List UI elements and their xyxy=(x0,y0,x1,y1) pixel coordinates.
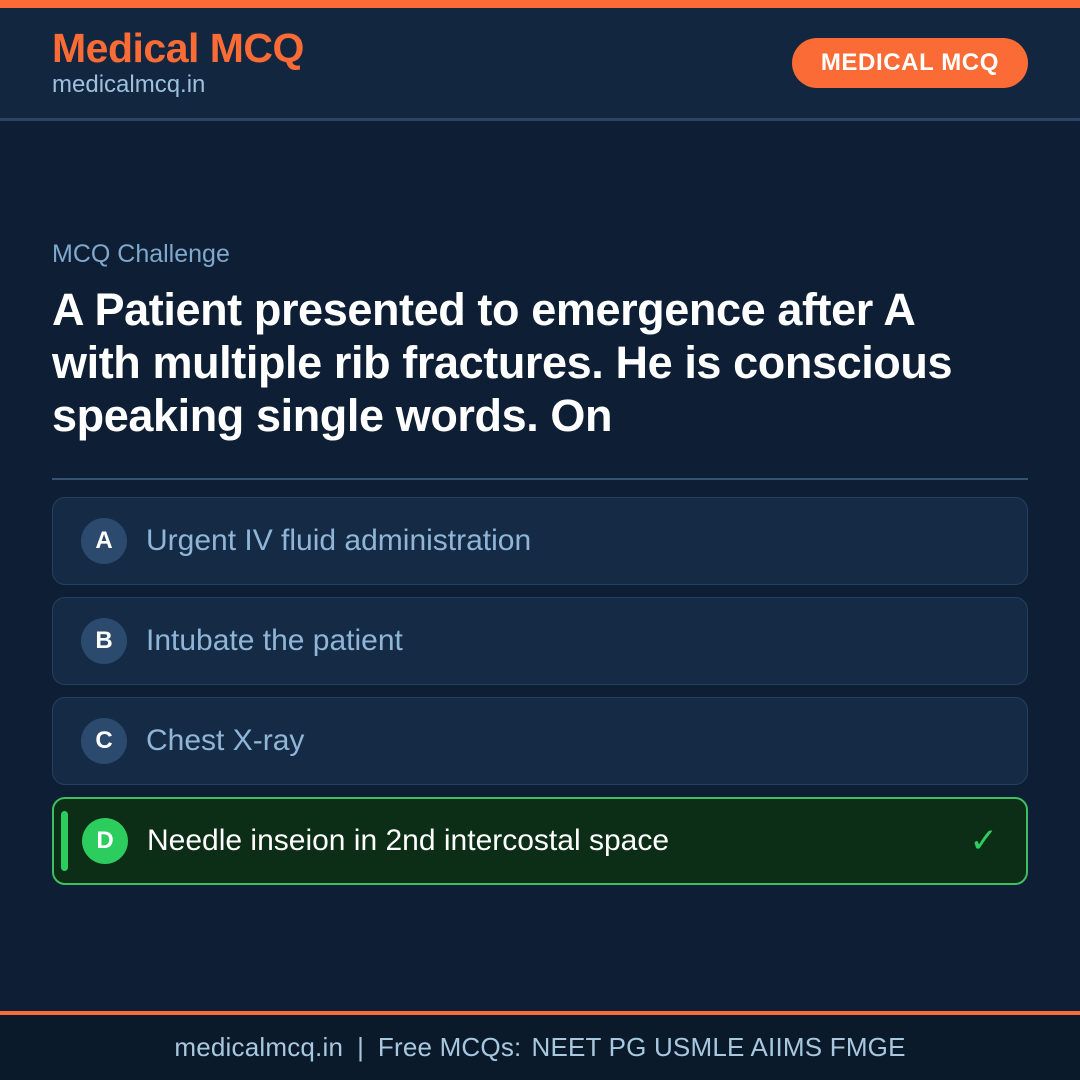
brand-subtitle: medicalmcq.in xyxy=(52,72,304,98)
brand-block: Medical MCQ medicalmcq.in xyxy=(52,27,304,98)
option-text: Chest X-ray xyxy=(146,723,999,759)
option-row-correct[interactable]: D Needle inseion in 2nd intercostal spac… xyxy=(52,797,1028,885)
header: Medical MCQ medicalmcq.in MEDICAL MCQ xyxy=(0,8,1080,121)
footer-prefix: Free MCQs: xyxy=(378,1032,522,1063)
option-row[interactable]: B Intubate the patient xyxy=(52,597,1028,685)
option-letter-badge: B xyxy=(81,618,127,664)
option-text: Intubate the patient xyxy=(146,623,999,659)
correct-accent-bar xyxy=(61,811,68,871)
option-letter-badge: A xyxy=(81,518,127,564)
footer-exams: NEET PG USMLE AIIMS FMGE xyxy=(531,1032,905,1063)
option-text: Needle inseion in 2nd intercostal space xyxy=(147,823,956,859)
eyebrow-label: MCQ Challenge xyxy=(52,239,1028,269)
check-icon: ✓ xyxy=(970,824,999,858)
option-text: Urgent IV fluid administration xyxy=(146,523,999,559)
options-list: A Urgent IV fluid administration B Intub… xyxy=(52,497,1028,885)
footer: medicalmcq.in | Free MCQs: NEET PG USMLE… xyxy=(0,1011,1080,1080)
mcq-card: Medical MCQ medicalmcq.in MEDICAL MCQ MC… xyxy=(0,0,1080,1080)
option-row[interactable]: C Chest X-ray xyxy=(52,697,1028,785)
footer-separator: | xyxy=(343,1032,378,1063)
brand-title: Medical MCQ xyxy=(52,27,304,70)
question-text: A Patient presented to emergence after A… xyxy=(52,283,1012,442)
main-content: MCQ Challenge A Patient presented to eme… xyxy=(0,121,1080,1011)
footer-site[interactable]: medicalmcq.in xyxy=(174,1032,343,1063)
question-divider xyxy=(52,478,1028,480)
header-badge[interactable]: MEDICAL MCQ xyxy=(792,38,1028,88)
option-row[interactable]: A Urgent IV fluid administration xyxy=(52,497,1028,585)
option-letter-badge: C xyxy=(81,718,127,764)
option-letter-badge: D xyxy=(82,818,128,864)
top-accent-bar xyxy=(0,0,1080,8)
